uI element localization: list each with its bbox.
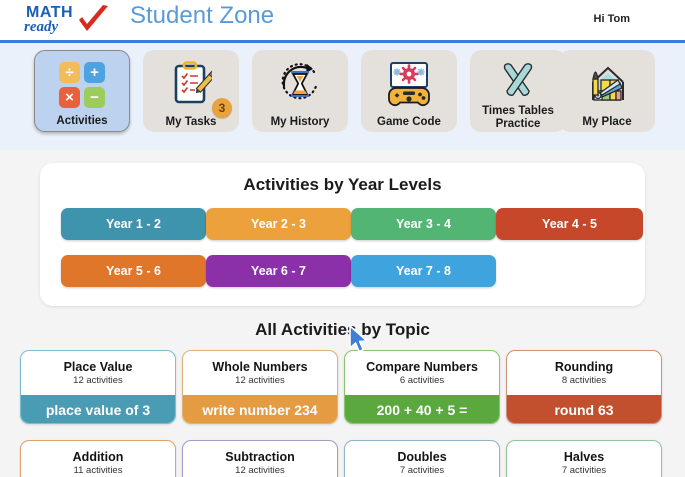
- topic-activity-count: 7 activities: [562, 465, 606, 476]
- topic-card-header: Place Value 12 activities: [21, 351, 175, 395]
- topic-card-subtraction[interactable]: Subtraction 12 activities: [182, 440, 338, 477]
- topic-card-header: Doubles 7 activities: [345, 441, 499, 477]
- house-paintbrush-icon: [559, 57, 655, 111]
- topic-name: Rounding: [555, 360, 613, 374]
- year-levels-panel: Activities by Year Levels Year 1 - 2 Yea…: [40, 163, 645, 306]
- tab-game-code[interactable]: Game Code: [361, 50, 457, 132]
- topic-card-header: Halves 7 activities: [507, 441, 661, 477]
- topics-title: All Activities by Topic: [0, 320, 685, 340]
- topic-card-place-value[interactable]: Place Value 12 activities place value of…: [20, 350, 176, 424]
- year-level-label: Year 5 - 6: [106, 264, 161, 278]
- year-level-button-3-4[interactable]: Year 3 - 4: [351, 208, 496, 240]
- task-count-badge: 3: [212, 98, 232, 118]
- topic-name: Whole Numbers: [212, 360, 307, 374]
- tab-label-line1: Times Tables: [482, 105, 554, 118]
- topic-card-header: Compare Numbers 6 activities: [345, 351, 499, 395]
- year-level-label: Year 4 - 5: [542, 217, 597, 231]
- topic-name: Addition: [73, 450, 124, 464]
- year-level-label: Year 7 - 8: [396, 264, 451, 278]
- logo-ready-text: ready: [24, 19, 58, 36]
- topic-activity-count: 8 activities: [562, 375, 606, 386]
- year-level-label: Year 2 - 3: [251, 217, 306, 231]
- topic-card-header: Rounding 8 activities: [507, 351, 661, 395]
- gamepad-screen-gear-icon: [361, 57, 457, 111]
- year-levels-title: Activities by Year Levels: [40, 175, 645, 195]
- tab-label: Game Code: [377, 116, 441, 128]
- year-level-button-2-3[interactable]: Year 2 - 3: [206, 208, 351, 240]
- main-navigation-tabs: ÷ + × − Activities: [0, 43, 685, 150]
- times-cross-icon: [470, 57, 566, 103]
- red-checkmark-icon: [77, 5, 111, 35]
- topic-example: round 63: [507, 395, 661, 424]
- topic-activity-count: 7 activities: [400, 465, 444, 476]
- topic-card-addition[interactable]: Addition 11 activities: [20, 440, 176, 477]
- year-level-button-7-8[interactable]: Year 7 - 8: [351, 255, 496, 287]
- user-greeting: Hi Tom: [594, 13, 630, 25]
- year-level-button-5-6[interactable]: Year 5 - 6: [61, 255, 206, 287]
- page-header: MATH ready Student Zone Hi Tom: [0, 0, 685, 40]
- topic-activity-count: 12 activities: [73, 375, 123, 386]
- hourglass-rotate-icon: [252, 57, 348, 111]
- divide-op-icon: ÷: [59, 62, 80, 83]
- tab-times-tables-practice[interactable]: Times Tables Practice: [470, 50, 566, 132]
- multiply-op-icon: ×: [59, 87, 80, 108]
- topic-card-rounding[interactable]: Rounding 8 activities round 63: [506, 350, 662, 424]
- topic-name: Halves: [564, 450, 604, 464]
- page-title: Student Zone: [130, 2, 274, 30]
- tab-label: My Place: [582, 116, 631, 128]
- plus-op-icon: +: [84, 62, 105, 83]
- tab-my-place[interactable]: My Place: [559, 50, 655, 132]
- topic-example: 200 + 40 + 5 =: [345, 395, 499, 424]
- topic-card-header: Addition 11 activities: [21, 441, 175, 477]
- topic-card-whole-numbers[interactable]: Whole Numbers 12 activities write number…: [182, 350, 338, 424]
- topic-card-doubles[interactable]: Doubles 7 activities: [344, 440, 500, 477]
- topic-card-halves[interactable]: Halves 7 activities: [506, 440, 662, 477]
- math-operations-grid-icon: ÷ + × −: [35, 58, 129, 112]
- year-level-button-6-7[interactable]: Year 6 - 7: [206, 255, 351, 287]
- year-level-label: Year 3 - 4: [396, 217, 451, 231]
- tab-my-tasks[interactable]: My Tasks 3: [143, 50, 239, 132]
- tab-label: Activities: [56, 115, 107, 127]
- tab-my-history[interactable]: My History: [252, 50, 348, 132]
- tab-activities[interactable]: ÷ + × − Activities: [34, 50, 130, 132]
- topic-activity-count: 6 activities: [400, 375, 444, 386]
- minus-op-icon: −: [84, 87, 105, 108]
- year-level-label: Year 6 - 7: [251, 264, 306, 278]
- student-zone-app: MATH ready Student Zone Hi Tom ÷ + × − A…: [0, 0, 685, 477]
- tab-label: My Tasks: [166, 116, 217, 128]
- topic-example: write number 234: [183, 395, 337, 424]
- topic-name: Subtraction: [225, 450, 294, 464]
- topic-activity-count: 11 activities: [74, 465, 123, 476]
- tab-label: My History: [271, 116, 330, 128]
- topic-card-header: Subtraction 12 activities: [183, 441, 337, 477]
- topic-name: Place Value: [64, 360, 133, 374]
- topic-activity-count: 12 activities: [235, 465, 285, 476]
- topic-name: Compare Numbers: [366, 360, 478, 374]
- topic-name: Doubles: [397, 450, 446, 464]
- year-level-button-1-2[interactable]: Year 1 - 2: [61, 208, 206, 240]
- topic-card-header: Whole Numbers 12 activities: [183, 351, 337, 395]
- mathready-logo[interactable]: MATH ready: [22, 3, 114, 37]
- year-level-label: Year 1 - 2: [106, 217, 161, 231]
- year-level-button-4-5[interactable]: Year 4 - 5: [496, 208, 643, 240]
- topic-card-compare-numbers[interactable]: Compare Numbers 6 activities 200 + 40 + …: [344, 350, 500, 424]
- topic-example: place value of 3: [21, 395, 175, 424]
- tab-label-line2: Practice: [496, 118, 541, 131]
- topic-activity-count: 12 activities: [235, 375, 285, 386]
